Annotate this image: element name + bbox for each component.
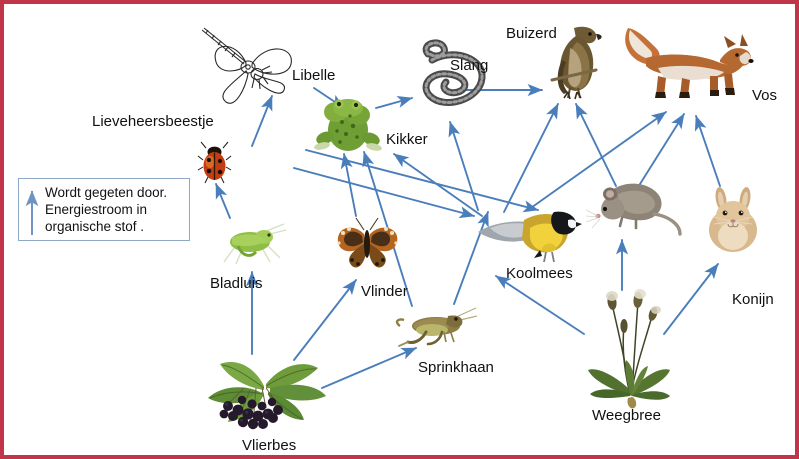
label-lieveheersbeestje: Lieveheersbeestje: [92, 114, 214, 129]
legend-box: Wordt gegeten door. Energiestroom in org…: [18, 178, 190, 241]
legend-line-3: organische stof .: [45, 218, 167, 235]
arrow-bladluis-row-to-koolmees: [294, 168, 474, 216]
arrow-koolmees-to-kikker: [394, 154, 482, 216]
organism-bladluis[interactable]: [216, 222, 288, 266]
arrow-kikker-to-buizerd: [306, 150, 538, 210]
arrow-weegbree-to-konijn: [664, 264, 718, 334]
organism-koolmees[interactable]: [476, 202, 582, 264]
arrow-weegbree-to-koolmees: [496, 276, 584, 334]
legend-line-2: Energiestroom in: [45, 201, 167, 218]
label-sprinkhaan: Sprinkhaan: [418, 360, 494, 375]
organism-konijn[interactable]: [704, 186, 764, 254]
organism-vos[interactable]: [624, 18, 754, 104]
arrow-bladluis-to-lieveheersbeestje: [216, 184, 230, 218]
organism-kikker[interactable]: [314, 96, 382, 154]
diagram-canvas: Libelle Lieveheersbeestje Kikker Slang B…: [4, 4, 795, 455]
label-buizerd: Buizerd: [506, 26, 557, 41]
arrow-vlinder-to-kikker: [344, 154, 356, 216]
legend-text: Wordt gegeten door. Energiestroom in org…: [45, 184, 171, 236]
organism-mouse[interactable]: [592, 174, 686, 236]
organism-vlinder[interactable]: [334, 216, 402, 272]
organism-vlierbes[interactable]: [200, 354, 332, 432]
arrow-koolmees-to-buizerd: [504, 104, 558, 212]
label-slang: Slang: [450, 58, 488, 73]
diagram-frame: Libelle Lieveheersbeestje Kikker Slang B…: [0, 0, 799, 459]
organism-slang[interactable]: [414, 34, 492, 116]
organism-weegbree[interactable]: [586, 286, 672, 412]
up-arrow-icon: [19, 179, 45, 240]
label-kikker: Kikker: [386, 132, 428, 147]
label-vos: Vos: [752, 88, 777, 103]
label-libelle: Libelle: [292, 68, 335, 83]
label-vlinder: Vlinder: [361, 284, 408, 299]
arrow-koolmees-to-slang: [450, 122, 478, 210]
label-weegbree: Weegbree: [592, 408, 661, 423]
arrow-vlierbes-to-sprinkhaan: [322, 348, 416, 388]
arrow-konijn-to-vos: [696, 116, 720, 186]
legend-line-1: Wordt gegeten door.: [45, 184, 167, 201]
organism-libelle[interactable]: [196, 22, 304, 110]
label-koolmees: Koolmees: [506, 266, 573, 281]
arrow-vlierbes-to-vlinder: [294, 280, 356, 360]
label-konijn: Konijn: [732, 292, 774, 307]
label-vlierbes: Vlierbes: [242, 438, 296, 453]
label-bladluis: Bladluis: [210, 276, 263, 291]
organism-sprinkhaan[interactable]: [396, 306, 478, 348]
organism-lieveheersbeestje[interactable]: [197, 140, 233, 184]
